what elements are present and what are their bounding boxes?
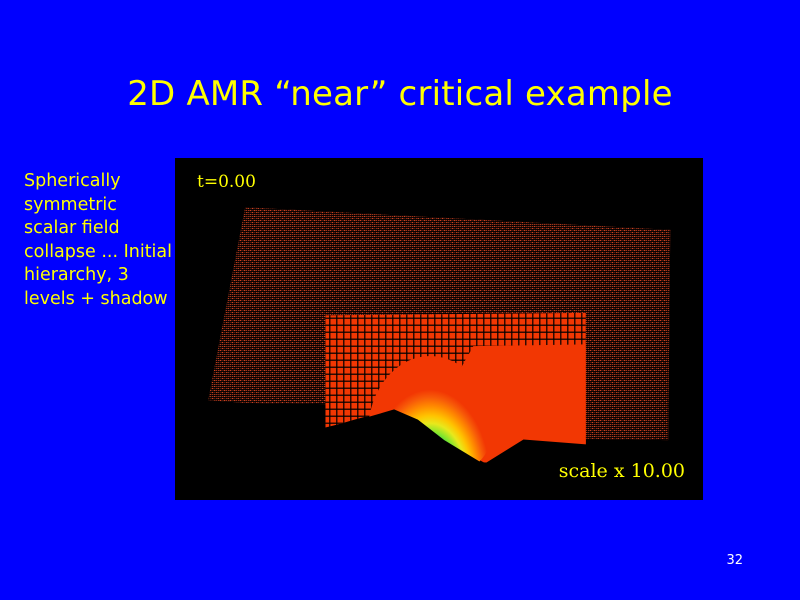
caption-text: Spherically symmetric scalar field colla… (24, 170, 174, 311)
scale-label: scale x 10.00 (559, 460, 685, 482)
surface-plot (175, 158, 703, 500)
page-number: 32 (726, 553, 743, 568)
figure-panel: t=0.00 scale x 10.00 (175, 158, 703, 500)
slide: 2D AMR “near” critical example Spherical… (0, 0, 800, 600)
page-title: 2D AMR “near” critical example (0, 73, 800, 115)
time-label: t=0.00 (197, 172, 256, 192)
